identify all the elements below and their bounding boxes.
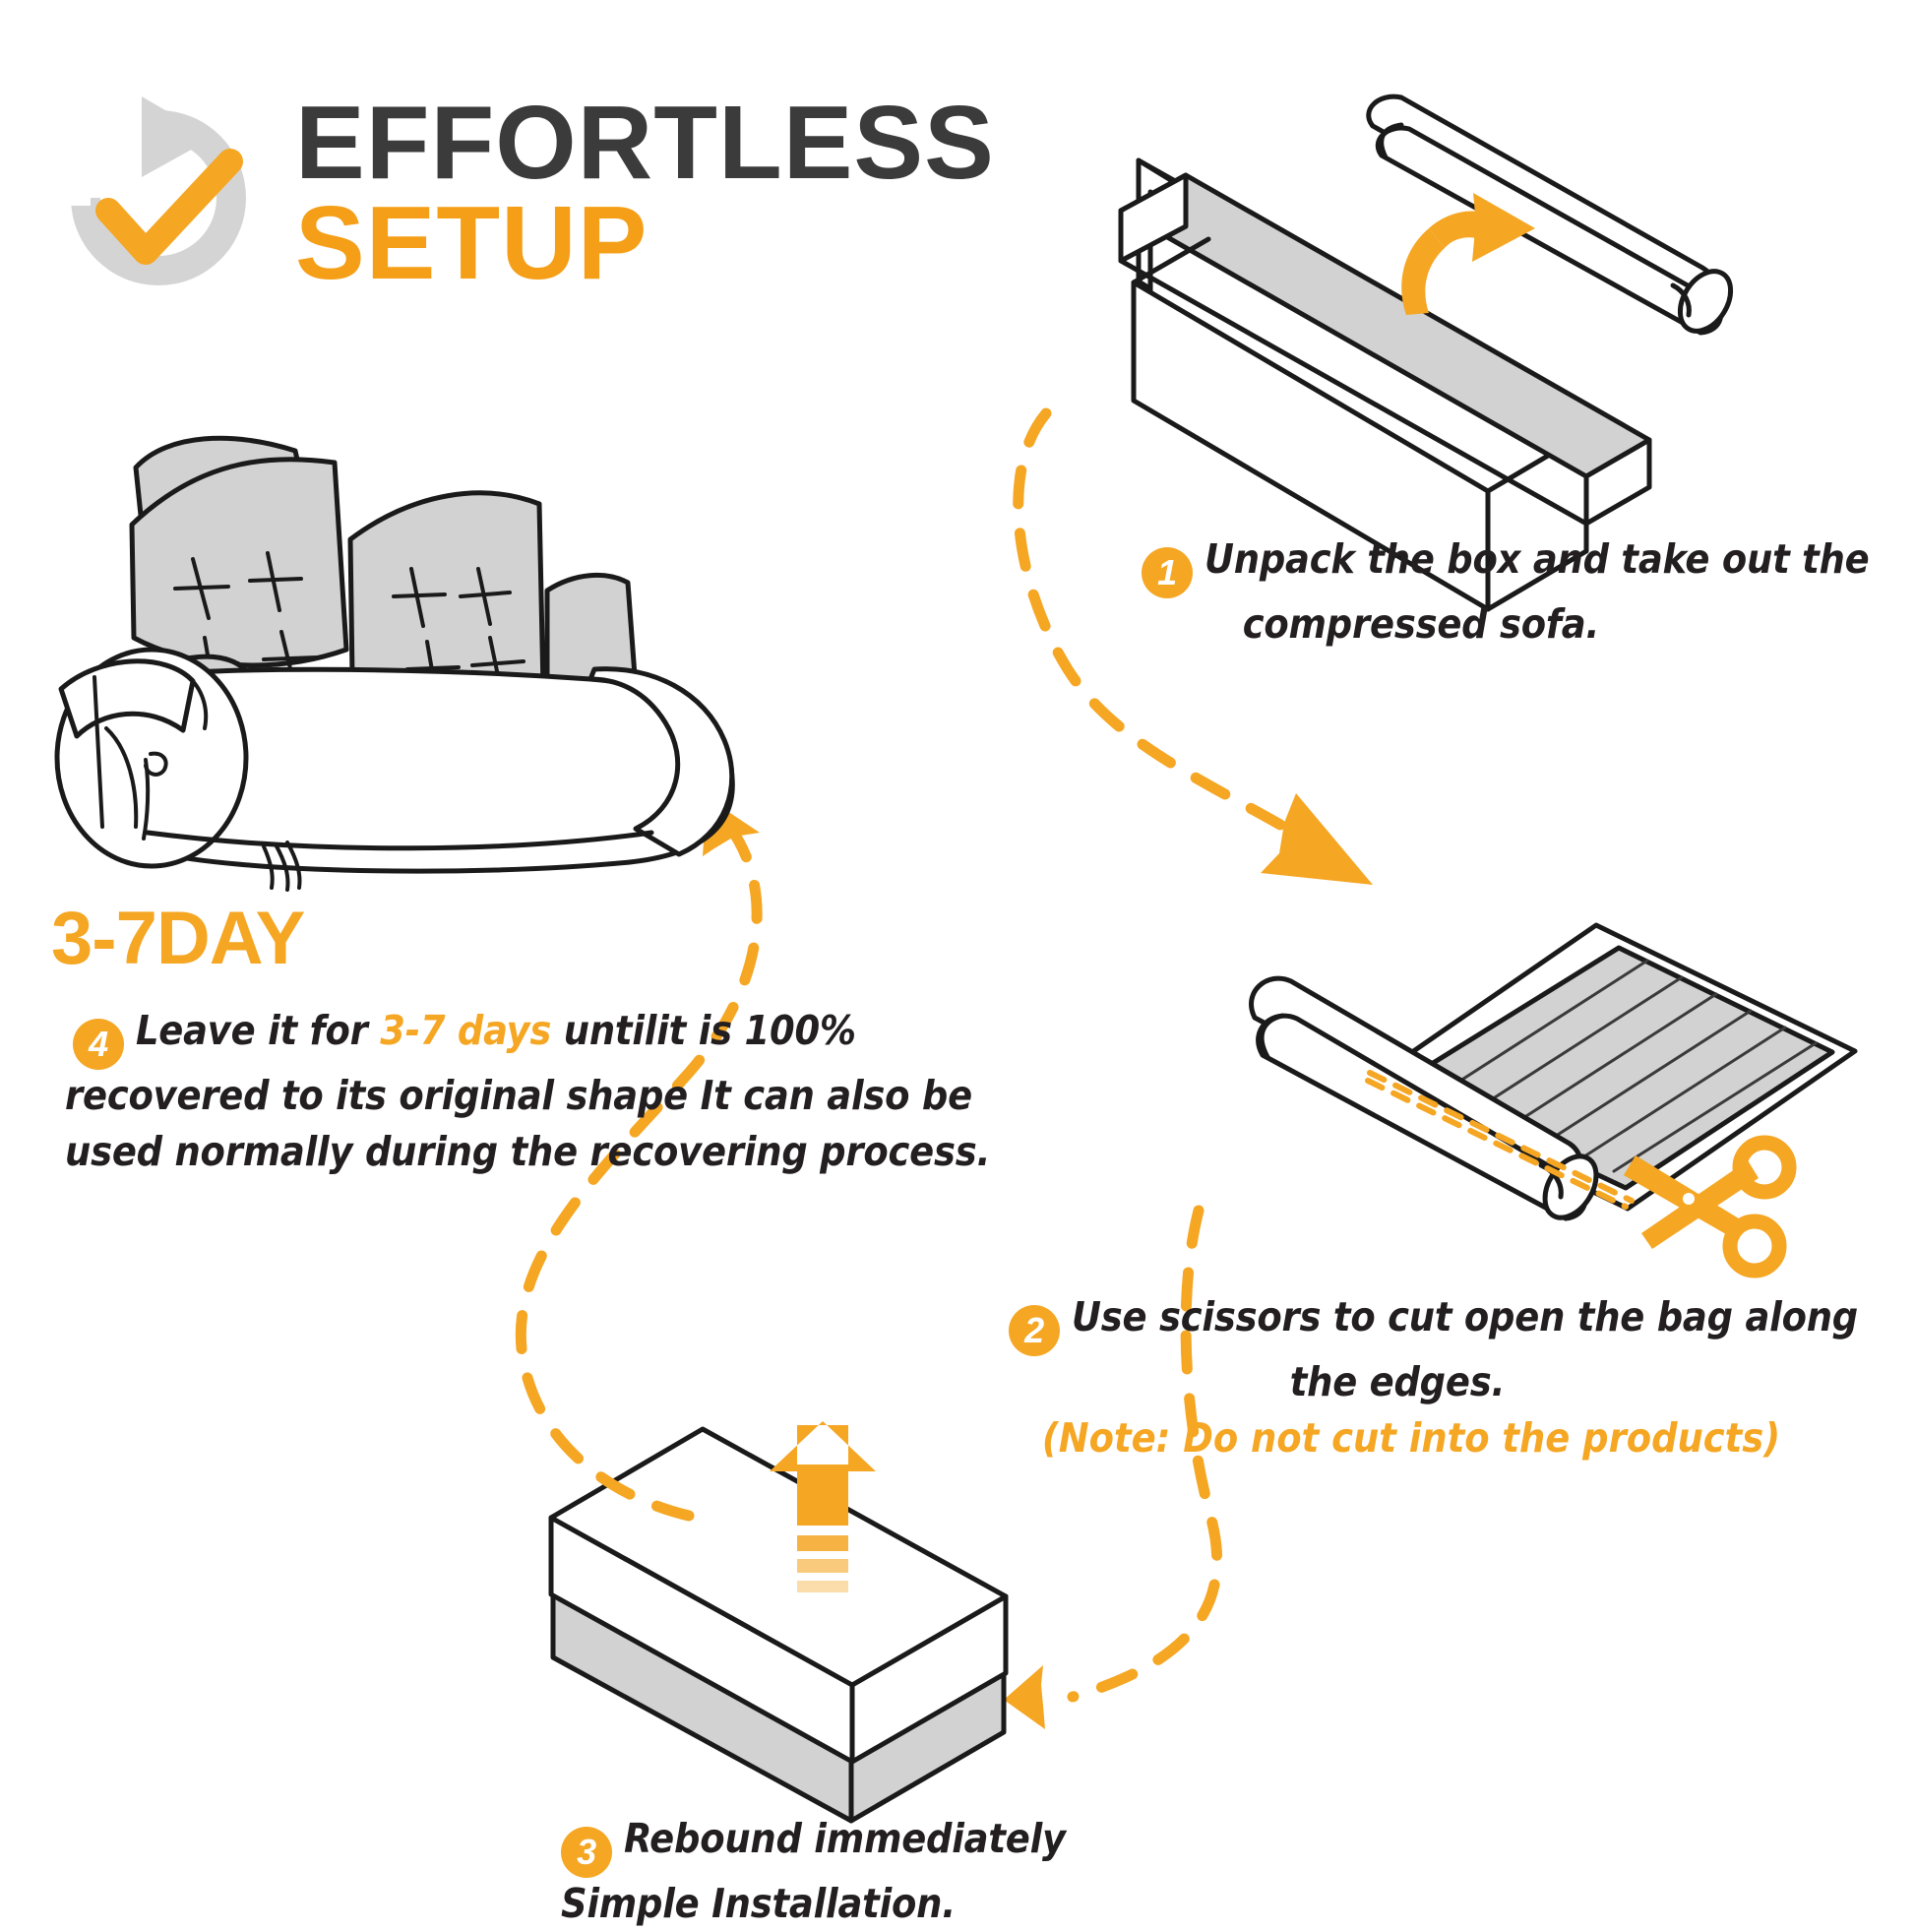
rolled-sofa-cylinder xyxy=(1369,96,1741,340)
step-3-line-1: 3Rebound immediately xyxy=(561,1811,984,1876)
step-4-line-1-a: Leave it for xyxy=(136,1007,380,1054)
title-line-2: SETUP xyxy=(295,194,995,294)
up-arrow-icon xyxy=(770,1421,876,1592)
step-1-badge: 1 xyxy=(1142,547,1193,598)
step-1-text: 1Unpack the box and take out the compres… xyxy=(1142,531,1771,653)
step-4-text-line-2: recovered to its original shape It can a… xyxy=(65,1068,760,1124)
step-4-line-1: 4Leave it for 3-7 days untilit is 100% xyxy=(73,1003,760,1068)
page-title: EFFORTLESS SETUP xyxy=(295,93,995,302)
title-line-1: EFFORTLESS xyxy=(295,93,995,194)
step-4-highlight: 3-7 days xyxy=(380,1007,551,1054)
step-1-text-line-1: Unpack the box and take out the xyxy=(1205,535,1870,583)
step-3-text-line-2: Simple Installation. xyxy=(561,1876,984,1932)
infographic-canvas: .ln { fill:none; stroke:#1a1a1a; stroke-… xyxy=(0,0,1915,1915)
scissors-icon xyxy=(1624,1143,1789,1271)
cut-line xyxy=(1368,1081,1626,1207)
step-2-note: (Note: Do not cut into the products) xyxy=(1009,1410,1825,1466)
step-3-badge: 3 xyxy=(561,1827,612,1878)
curved-arrow-icon xyxy=(1401,193,1535,315)
step-4-badge: 4 xyxy=(73,1019,124,1070)
step-2-line-1: 2Use scissors to cut open the bag along xyxy=(1009,1289,1825,1354)
step-2-text-line-1: Use scissors to cut open the bag along xyxy=(1072,1293,1858,1340)
step-4-text: 3-7DAY 4Leave it for 3-7 days untilit is… xyxy=(51,896,760,1181)
step-3-text-line-1: Rebound immediately xyxy=(624,1815,1066,1862)
vacuum-bag-illustration xyxy=(1252,925,1855,1226)
refresh-check-icon xyxy=(47,87,270,309)
sofa-illustration xyxy=(57,438,732,890)
foam-block-illustration xyxy=(551,1429,1006,1821)
step-2-text: 2Use scissors to cut open the bag along … xyxy=(1009,1289,1825,1467)
step-1-text-line-2: compressed sofa. xyxy=(1142,596,1771,653)
step-1-line-1: 1Unpack the box and take out the xyxy=(1142,531,1771,596)
step-4-line-1-b: untilit is 100% xyxy=(551,1007,856,1054)
header: EFFORTLESS SETUP xyxy=(47,87,995,309)
days-heading: 3-7DAY xyxy=(51,896,760,981)
step-2-badge: 2 xyxy=(1009,1305,1060,1356)
step-3-text: 3Rebound immediately Simple Installation… xyxy=(561,1811,984,1932)
step-4-text-line-3: used normally during the recovering proc… xyxy=(65,1124,760,1180)
step-2-text-line-2: the edges. xyxy=(1009,1354,1825,1410)
